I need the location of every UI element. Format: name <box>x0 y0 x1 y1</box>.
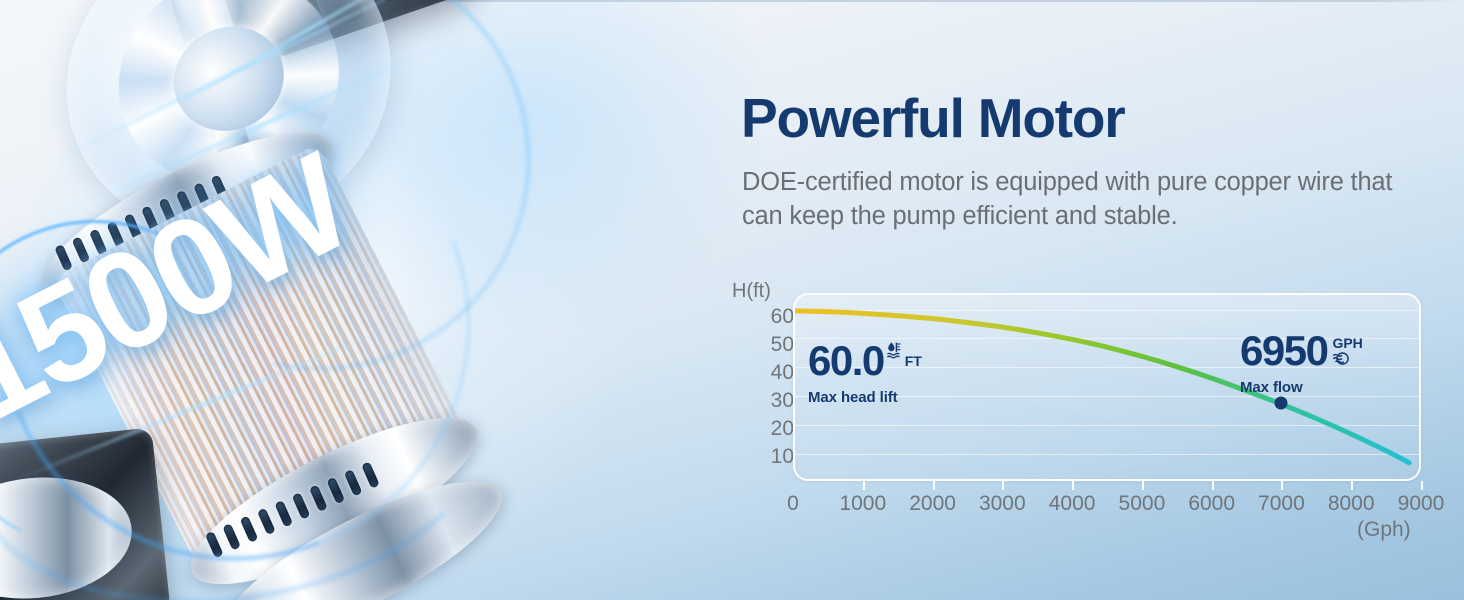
x-tick-label-5000: 5000 <box>1119 492 1166 516</box>
y-tick-30: 30 <box>771 387 794 415</box>
motor-product-photo: 1500W <box>0 0 760 600</box>
y-axis-title: H(ft) <box>732 280 771 303</box>
y-tick-60: 60 <box>771 303 794 331</box>
max-flow-point-marker <box>1275 396 1288 409</box>
y-tick-40: 40 <box>771 359 794 387</box>
x-tick-label-7000: 7000 <box>1258 492 1305 516</box>
max-head-lift-value: 60.0 <box>808 340 884 382</box>
x-tick-9000 <box>1421 481 1423 490</box>
y-tick-50: 50 <box>771 331 794 359</box>
max-head-lift-label: Max head lift <box>808 389 922 406</box>
x-tick-8000 <box>1351 481 1353 490</box>
y-tick-20: 20 <box>771 415 794 443</box>
x-tick-3000 <box>1002 481 1004 490</box>
page-title: Powerful Motor <box>741 86 1124 150</box>
water-flow-icon <box>1332 351 1351 366</box>
callout-max-head-lift: 60.0 FT Max head lift <box>808 340 922 406</box>
x-axis-ticks <box>793 481 1421 491</box>
x-tick-4000 <box>1072 481 1074 490</box>
y-axis-tick-labels: 605040302010 <box>750 303 794 471</box>
x-tick-label-4000: 4000 <box>1049 492 1096 516</box>
callout-max-flow: 6950 GPH Max flow <box>1240 330 1363 396</box>
x-tick-label-8000: 8000 <box>1328 492 1375 516</box>
promo-banner: 1500W Powerful Motor DOE-certified motor… <box>0 0 1464 600</box>
max-flow-unit: GPH <box>1332 336 1362 351</box>
x-tick-label-0: 0 <box>787 492 799 516</box>
x-tick-label-2000: 2000 <box>909 492 956 516</box>
x-tick-label-1000: 1000 <box>839 492 886 516</box>
max-flow-value: 6950 <box>1240 330 1327 372</box>
content-panel: Powerful Motor DOE-certified motor is eq… <box>738 0 1464 600</box>
x-tick-1000 <box>863 481 865 490</box>
x-tick-label-6000: 6000 <box>1188 492 1235 516</box>
page-subtitle: DOE-certified motor is equipped with pur… <box>742 166 1432 234</box>
x-tick-5000 <box>1142 481 1144 490</box>
max-flow-label: Max flow <box>1240 379 1363 396</box>
max-head-lift-unit: FT <box>905 354 922 369</box>
x-tick-label-3000: 3000 <box>979 492 1026 516</box>
x-tick-label-9000: 9000 <box>1398 492 1445 516</box>
x-axis-title: (Gph) <box>1357 518 1411 542</box>
x-tick-2000 <box>933 481 935 490</box>
x-tick-7000 <box>1281 481 1283 490</box>
y-tick-10: 10 <box>771 443 794 471</box>
water-drop-ruler-icon <box>887 341 902 360</box>
x-tick-6000 <box>1212 481 1214 490</box>
x-axis-tick-labels: 0100020003000400050006000700080009000 <box>738 492 1438 518</box>
